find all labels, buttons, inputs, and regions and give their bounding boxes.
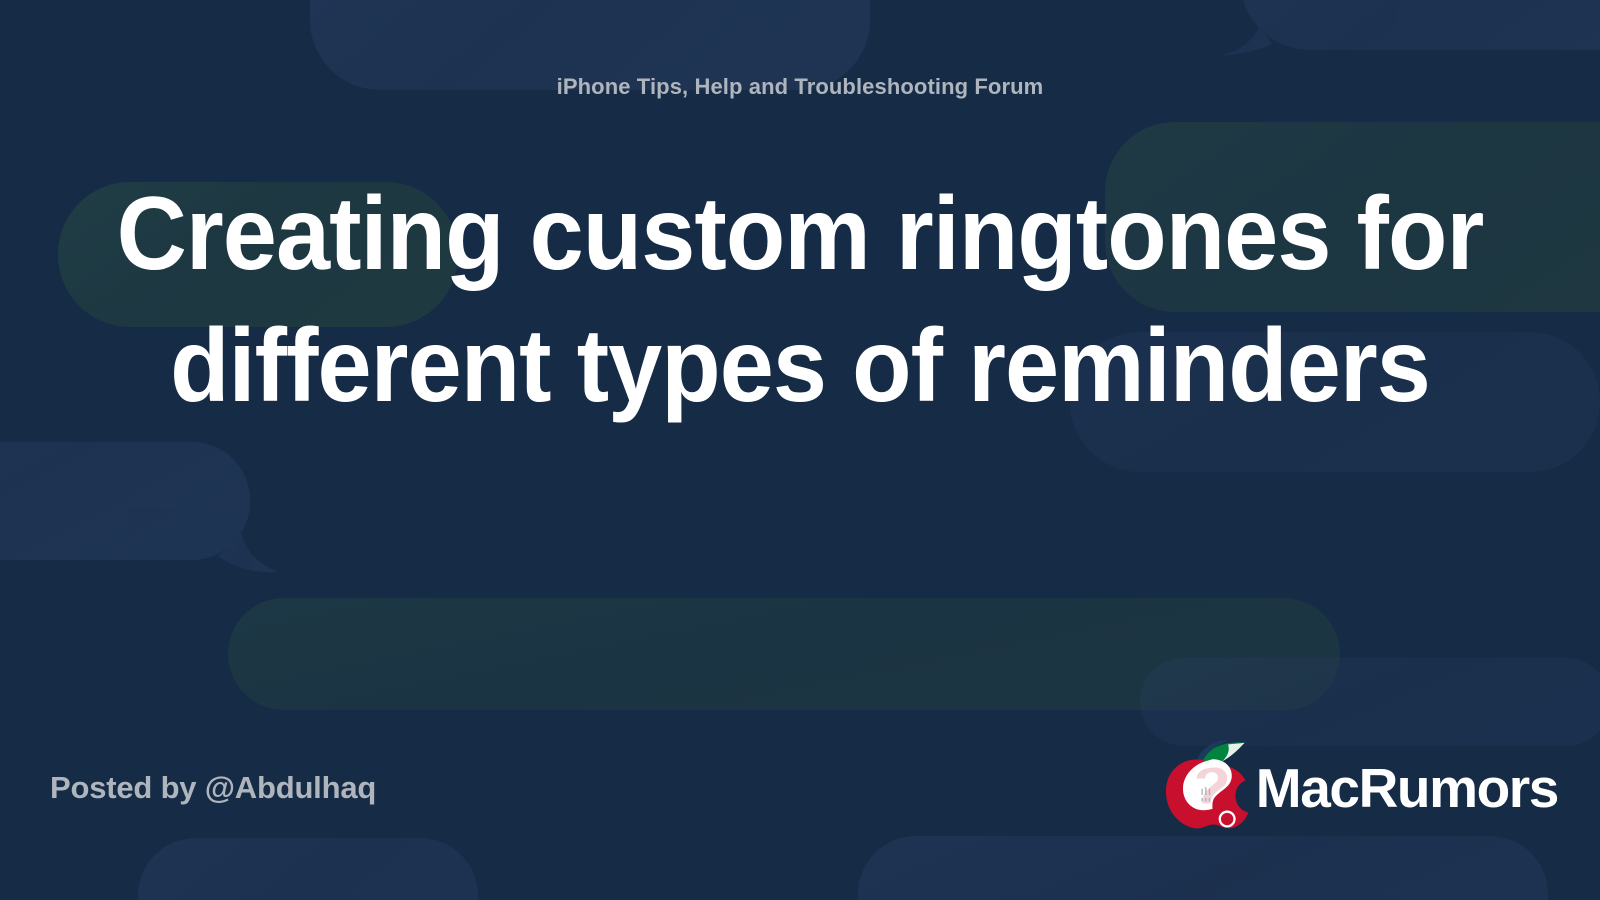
macrumors-brand-lockup: MacRumors bbox=[1160, 735, 1558, 835]
macrumors-apple-icon bbox=[1160, 737, 1252, 833]
macrumors-wordmark: MacRumors bbox=[1256, 761, 1558, 816]
post-title: Creating custom ringtones for different … bbox=[99, 168, 1502, 432]
posted-by-label: Posted by @Abdulhaq bbox=[50, 770, 376, 806]
forum-name-label: iPhone Tips, Help and Troubleshooting Fo… bbox=[0, 74, 1600, 100]
card-content: iPhone Tips, Help and Troubleshooting Fo… bbox=[0, 0, 1600, 900]
macrumors-share-card: iPhone Tips, Help and Troubleshooting Fo… bbox=[0, 0, 1600, 900]
